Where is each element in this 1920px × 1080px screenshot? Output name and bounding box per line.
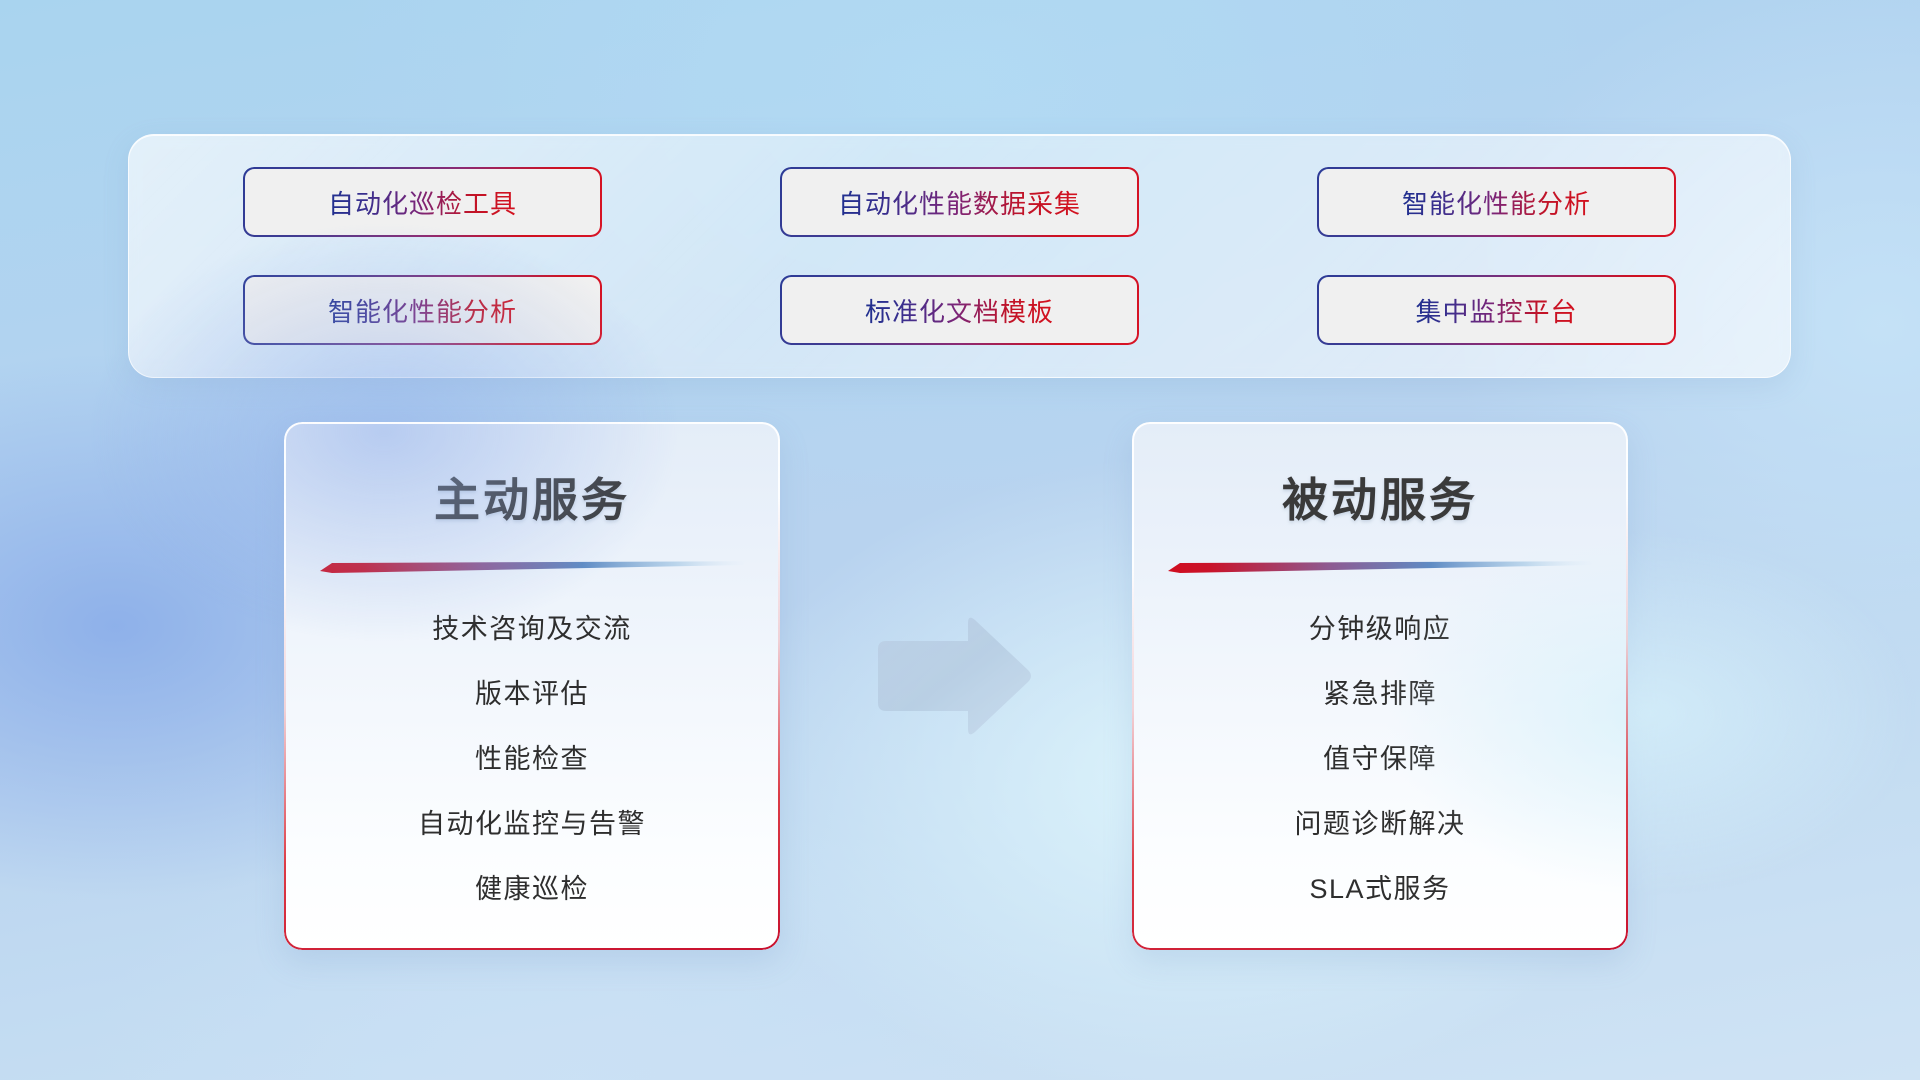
service-item: 版本评估 <box>475 672 589 711</box>
service-item: 问题诊断解决 <box>1295 802 1466 841</box>
service-item: SLA式服务 <box>1309 867 1450 906</box>
service-item-list: 分钟级响应 紧急排障 值守保障 问题诊断解决 SLA式服务 <box>1132 607 1628 906</box>
title-divider <box>320 560 744 573</box>
service-card-title: 主动服务 <box>284 464 780 530</box>
service-item: 健康巡检 <box>475 867 589 906</box>
capability-tag-label: 智能化性能分析 <box>328 292 517 329</box>
service-card-title: 被动服务 <box>1132 464 1628 530</box>
service-item: 分钟级响应 <box>1309 607 1452 646</box>
service-item-list: 技术咨询及交流 版本评估 性能检查 自动化监控与告警 健康巡检 <box>284 607 780 906</box>
capability-tag-label: 集中监控平台 <box>1415 292 1577 329</box>
service-card-proactive[interactable]: 主动服务 技术咨询及交流 版本评估 性能检查 <box>284 422 780 950</box>
capability-tag-label: 自动化巡检工具 <box>328 184 517 221</box>
title-divider <box>1168 560 1592 573</box>
capability-tag[interactable]: 自动化性能数据采集 <box>782 169 1138 235</box>
capability-tag[interactable]: 标准化文档模板 <box>782 277 1138 343</box>
slide-canvas: 自动化巡检工具 自动化性能数据采集 智能化性能分析 智能化性能分析 标准化文档模… <box>0 0 1920 1080</box>
service-item: 紧急排障 <box>1323 672 1437 711</box>
capability-tag[interactable]: 智能化性能分析 <box>245 277 601 343</box>
service-item: 自动化监控与告警 <box>418 802 646 841</box>
arrow-right-icon <box>872 615 1034 737</box>
capability-tag-label: 自动化性能数据采集 <box>838 184 1081 221</box>
service-card-reactive[interactable]: 被动服务 分钟级响应 紧急排障 值守保障 <box>1132 422 1628 950</box>
service-item: 技术咨询及交流 <box>432 607 632 646</box>
service-item: 性能检查 <box>475 737 589 776</box>
capability-tag-label: 智能化性能分析 <box>1402 184 1591 221</box>
capability-tag-label: 标准化文档模板 <box>865 292 1054 329</box>
capability-tag[interactable]: 智能化性能分析 <box>1319 169 1675 235</box>
service-item: 值守保障 <box>1323 737 1437 776</box>
capability-tag[interactable]: 自动化巡检工具 <box>245 169 601 235</box>
capability-panel: 自动化巡检工具 自动化性能数据采集 智能化性能分析 智能化性能分析 标准化文档模… <box>128 134 1791 378</box>
capability-tag[interactable]: 集中监控平台 <box>1319 277 1675 343</box>
